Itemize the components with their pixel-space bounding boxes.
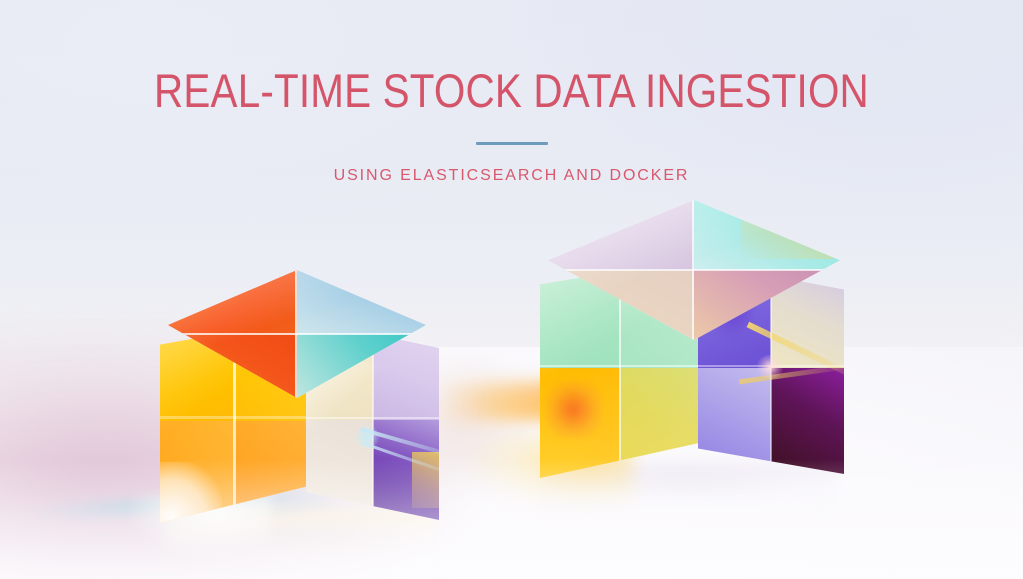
page-title: REAL-TIME STOCK DATA INGESTION bbox=[72, 66, 952, 116]
right-cube-right-quadrant-3 bbox=[698, 368, 771, 474]
left-cube-center-glint bbox=[354, 424, 380, 450]
prism-cube-right bbox=[534, 192, 854, 492]
prism-cube-left bbox=[150, 258, 450, 533]
page-subtitle: USING ELASTICSEARCH AND DOCKER bbox=[0, 167, 1023, 185]
title-divider bbox=[476, 142, 548, 145]
slide-canvas: REAL-TIME STOCK DATA INGESTION USING ELA… bbox=[0, 0, 1023, 579]
right-cube-right-quadrant-4 bbox=[771, 368, 844, 474]
title-block: REAL-TIME STOCK DATA INGESTION USING ELA… bbox=[0, 66, 1023, 185]
